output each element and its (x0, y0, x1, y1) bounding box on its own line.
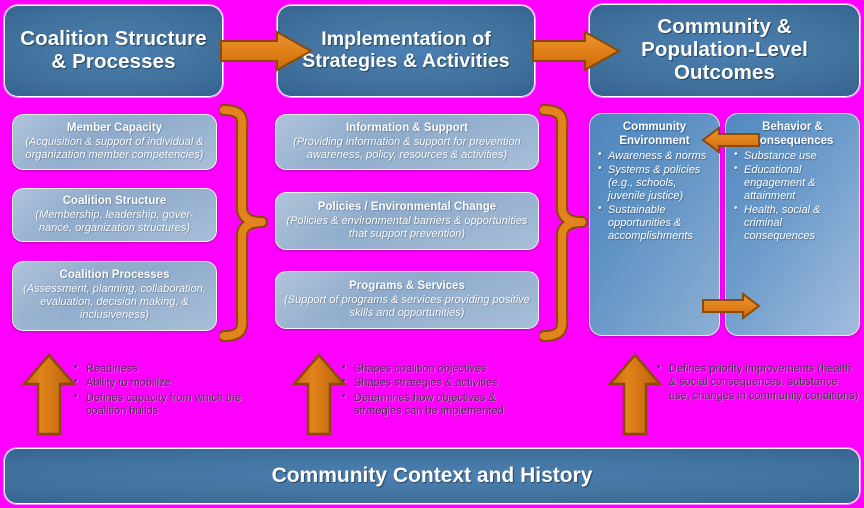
notes-outcomes: Defines priority improvements (health & … (655, 363, 860, 404)
bullet-list: Substance use Educational engagement & a… (731, 150, 854, 243)
list-item: Defines capacity from which the coalitio… (72, 392, 262, 419)
list-item: Defines priority improvements (health & … (655, 363, 860, 403)
footer-community-context-history[interactable]: Community Context and History (4, 448, 860, 504)
list-item: Ability to mobilize (72, 377, 262, 390)
box-title: Programs & Services (349, 280, 465, 294)
box-subtitle: (Providing information & support for pre… (282, 136, 532, 162)
box-title: Coalition Structure (63, 195, 167, 209)
list-item: Determines how objectives & strategies c… (340, 392, 545, 419)
box-title: Information & Support (346, 122, 468, 136)
box-subtitle: (Acquisition & support of individual & o… (19, 136, 210, 162)
header-label: Community & Population-Level Outcomes (635, 16, 814, 85)
box-title: Coalition Processes (60, 269, 170, 283)
header-community-population-outcomes[interactable]: Community & Population-Level Outcomes (589, 4, 860, 97)
arrow-right-icon-environment-to-behavior (701, 292, 761, 320)
header-coalition-structure-processes[interactable]: Coalition Structure & Processes (4, 5, 223, 97)
box-programs-services[interactable]: Programs & Services (Support of programs… (275, 271, 539, 329)
list-item: Health, social & criminal consequences (744, 204, 854, 243)
bullet-list: Defines priority improvements (health & … (655, 363, 860, 403)
box-title: Policies / Environmental Change (318, 201, 496, 215)
arrow-up-icon-coalition (22, 352, 78, 437)
arrow-right-icon-coalition-to-implementation (219, 30, 313, 72)
box-subtitle: (Policies & environmental barriers & opp… (282, 215, 532, 241)
box-policies-environmental-change[interactable]: Policies / Environmental Change (Policie… (275, 192, 539, 250)
header-label: Coalition Structure & Processes (14, 28, 212, 74)
bullet-list: Awareness & norms Systems & policies (e.… (595, 150, 714, 243)
bullet-list: Readiness Ability to mobilize Defines ca… (72, 363, 262, 419)
box-coalition-processes[interactable]: Coalition Processes (Assessment, plannin… (12, 261, 217, 331)
list-item: Systems & policies (e.g., schools, juven… (608, 164, 714, 203)
box-title: Community Environment (595, 121, 714, 148)
bullet-list: Shapes coalition objectives Shapes strat… (340, 363, 545, 419)
list-item: Readiness (72, 363, 262, 376)
list-item: Shapes coalition objectives (340, 363, 545, 376)
footer-label: Community Context and History (272, 464, 593, 488)
list-item: Awareness & norms (608, 150, 714, 163)
box-subtitle: (Support of programs & services providin… (282, 294, 532, 320)
box-subtitle: (Assessment, planning, collaboration, ev… (19, 283, 210, 323)
list-item: Sustainable opportunities & accomplishme… (608, 204, 714, 243)
box-title: Member Capacity (67, 122, 162, 136)
list-item: Educational engagement & attainment (744, 164, 854, 203)
notes-coalition: Readiness Ability to mobilize Defines ca… (72, 363, 262, 420)
box-subtitle: (Membership, leadership, gover-nance, or… (19, 209, 210, 235)
arrow-left-icon-behavior-to-environment (701, 126, 761, 154)
notes-implementation: Shapes coalition objectives Shapes strat… (340, 363, 545, 420)
box-coalition-structure[interactable]: Coalition Structure (Membership, leaders… (12, 188, 217, 242)
list-item: Shapes strategies & activities (340, 377, 545, 390)
box-member-capacity[interactable]: Member Capacity (Acquisition & support o… (12, 114, 217, 170)
diagram-canvas: Coalition Structure & Processes Implemen… (0, 0, 864, 508)
brace-right-icon-left-to-middle (220, 104, 280, 342)
arrow-right-icon-implementation-to-outcomes (531, 30, 621, 72)
box-information-support[interactable]: Information & Support (Providing informa… (275, 114, 539, 170)
header-label: Implementation of Strategies & Activitie… (296, 29, 516, 73)
header-implementation-strategies-activities[interactable]: Implementation of Strategies & Activitie… (277, 5, 535, 97)
